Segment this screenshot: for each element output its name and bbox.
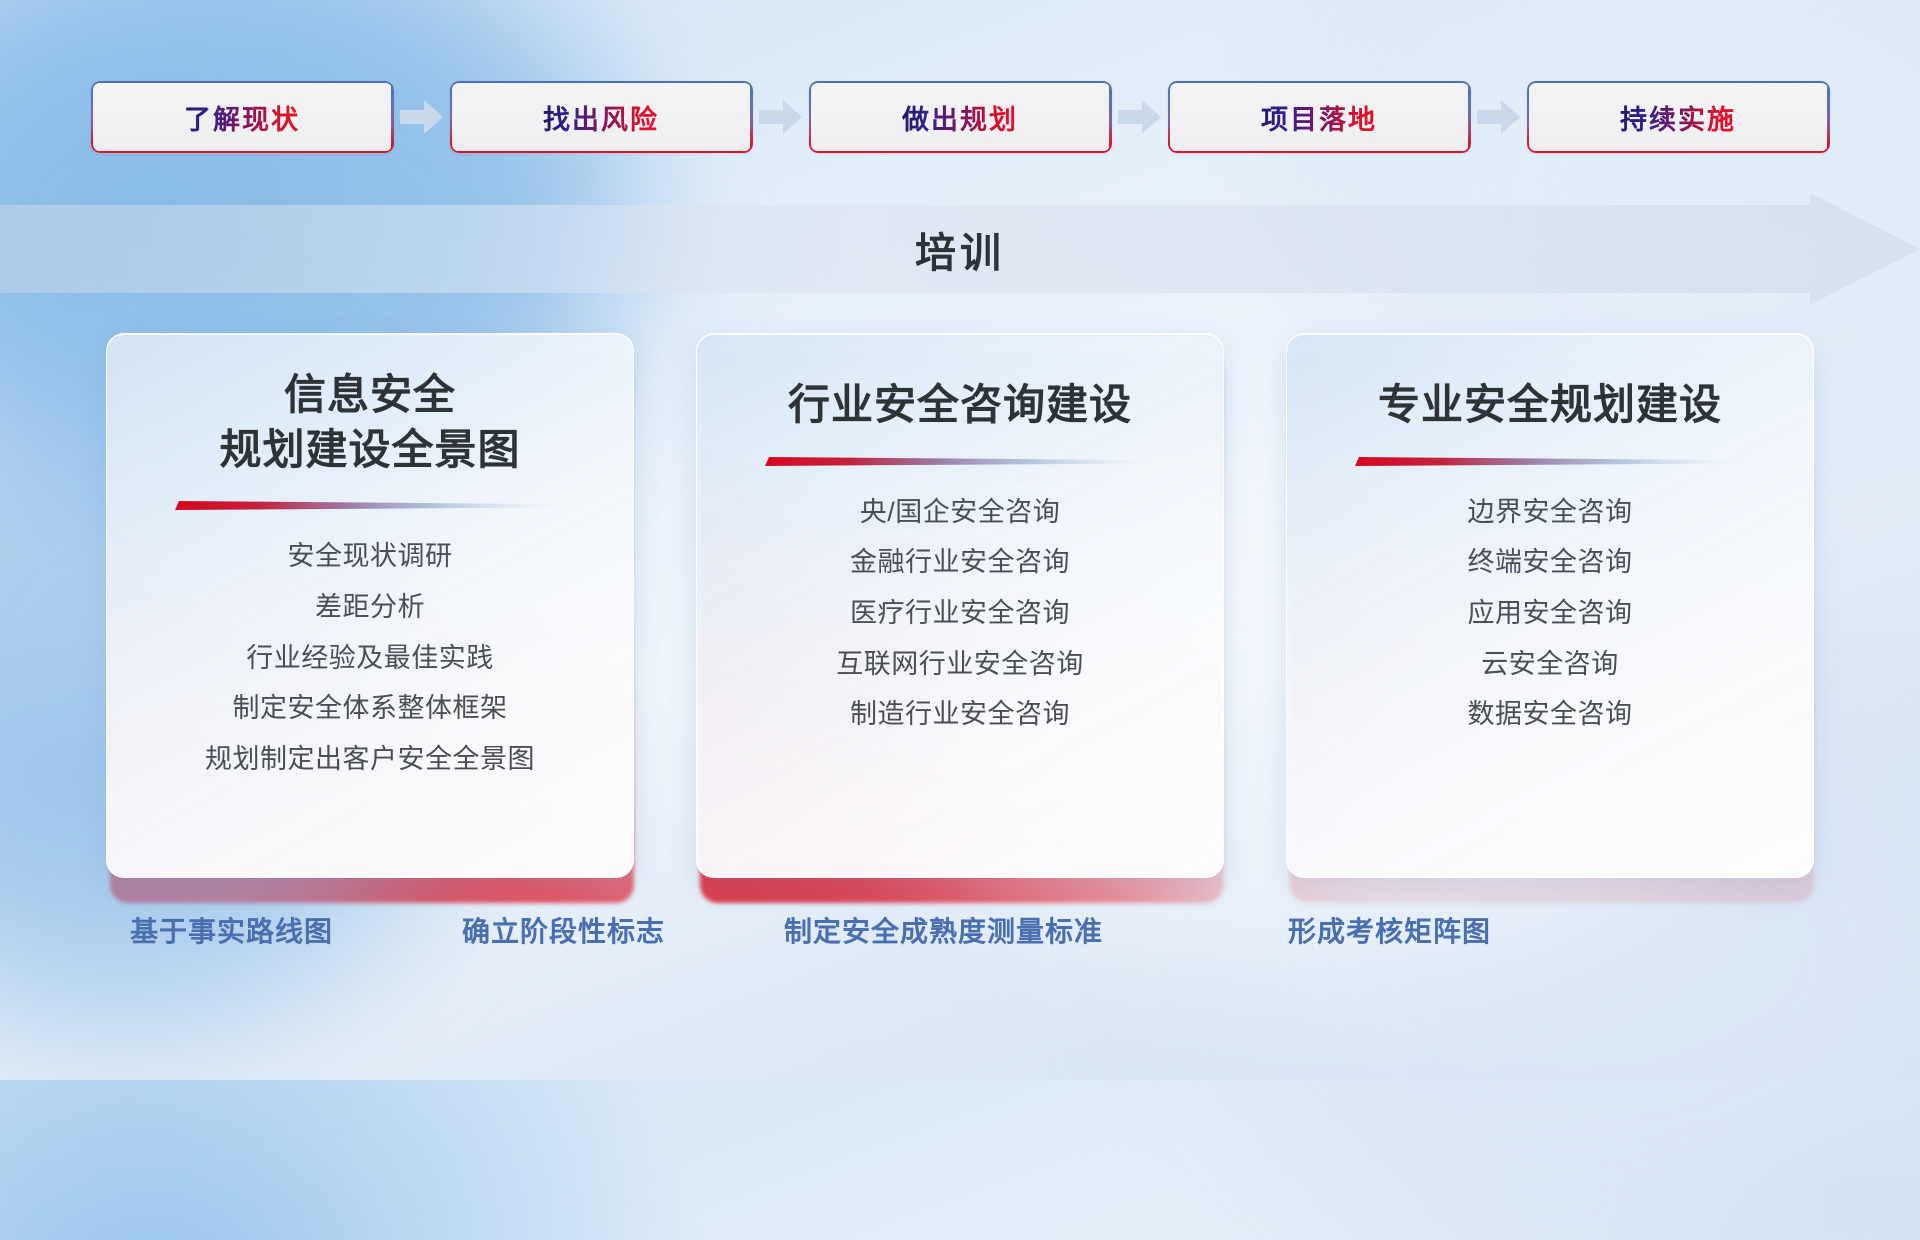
card-divider-1 (765, 455, 1155, 469)
step-box-1[interactable]: 找出风险 (450, 81, 753, 153)
feature-card-row: 信息安全规划建设全景图 安全现状调研差距分析行业经验及最佳实践制定安全体系整体框… (0, 333, 1920, 878)
arrow-right-icon (1118, 99, 1162, 135)
feature-card-1[interactable]: 行业安全咨询建设 央/国企安全咨询金融行业安全咨询医疗行业安全咨询互联网行业安全… (696, 333, 1224, 878)
feature-card-0[interactable]: 信息安全规划建设全景图 安全现状调研差距分析行业经验及最佳实践制定安全体系整体框… (106, 333, 634, 878)
process-step-flow: 了解现状 找出风险 做出规划 项目落地 持续实施 (0, 78, 1920, 156)
feature-card-wrapper-0: 信息安全规划建设全景图 安全现状调研差距分析行业经验及最佳实践制定安全体系整体框… (106, 333, 634, 878)
card-list-item[interactable]: 金融行业安全咨询 (850, 541, 1070, 584)
card-title-line-0-0: 信息安全 (219, 368, 520, 423)
step-box-2[interactable]: 做出规划 (809, 81, 1112, 153)
card-title-line-2-0: 专业安全规划建设 (1378, 378, 1722, 433)
card-divider-2 (1355, 455, 1745, 469)
step-connector-arrow-4 (1471, 78, 1527, 156)
step-box-0[interactable]: 了解现状 (91, 81, 394, 153)
feature-card-2[interactable]: 专业安全规划建设 边界安全咨询终端安全咨询应用安全咨询云安全咨询数据安全咨询 (1286, 333, 1814, 878)
feature-card-wrapper-1: 行业安全咨询建设 央/国企安全咨询金融行业安全咨询医疗行业安全咨询互联网行业安全… (696, 333, 1224, 878)
caption-2: 制定安全成熟度测量标准 (784, 910, 1103, 950)
card-list-item[interactable]: 安全现状调研 (288, 535, 453, 578)
step-label-2: 做出规划 (902, 98, 1018, 137)
step-label-3: 项目落地 (1261, 98, 1377, 137)
card-title-line-1-0: 行业安全咨询建设 (788, 378, 1132, 433)
caption-row: 基于事实路线图确立阶段性标志制定安全成熟度测量标准形成考核矩阵图 (0, 910, 1920, 958)
step-label-1: 找出风险 (543, 98, 659, 137)
card-list-item[interactable]: 互联网行业安全咨询 (836, 643, 1084, 686)
card-list-item[interactable]: 边界安全咨询 (1468, 491, 1633, 534)
caption-1: 确立阶段性标志 (462, 910, 665, 950)
card-list-item[interactable]: 差距分析 (315, 586, 425, 629)
card-list-item[interactable]: 医疗行业安全咨询 (850, 592, 1070, 635)
card-list-item[interactable]: 规划制定出客户安全全景图 (205, 738, 535, 781)
step-connector-arrow-3 (1112, 78, 1168, 156)
card-list-item[interactable]: 制定安全体系整体框架 (233, 687, 508, 730)
card-list-item[interactable]: 数据安全咨询 (1468, 693, 1633, 736)
step-label-0: 了解现状 (184, 98, 300, 137)
step-label-4: 持续实施 (1620, 98, 1736, 137)
step-box-4[interactable]: 持续实施 (1527, 81, 1830, 153)
card-list-item[interactable]: 央/国企安全咨询 (860, 491, 1061, 534)
step-connector-arrow-2 (753, 78, 809, 156)
caption-3: 形成考核矩阵图 (1288, 910, 1491, 950)
card-title-1: 行业安全咨询建设 (788, 378, 1132, 433)
caption-0: 基于事实路线图 (130, 910, 333, 950)
card-title-line-0-1: 规划建设全景图 (219, 423, 520, 478)
card-title-2: 专业安全规划建设 (1378, 378, 1722, 433)
card-list-item[interactable]: 云安全咨询 (1481, 643, 1619, 686)
feature-card-wrapper-2: 专业安全规划建设 边界安全咨询终端安全咨询应用安全咨询云安全咨询数据安全咨询 (1286, 333, 1814, 878)
card-list-item[interactable]: 终端安全咨询 (1468, 541, 1633, 584)
card-list-2: 边界安全咨询终端安全咨询应用安全咨询云安全咨询数据安全咨询 (1287, 491, 1813, 736)
training-banner: 培训 (0, 193, 1920, 305)
card-title-0: 信息安全规划建设全景图 (219, 368, 520, 477)
card-list-1: 央/国企安全咨询金融行业安全咨询医疗行业安全咨询互联网行业安全咨询制造行业安全咨… (697, 491, 1223, 736)
card-list-0: 安全现状调研差距分析行业经验及最佳实践制定安全体系整体框架规划制定出客户安全全景… (107, 535, 633, 780)
step-connector-arrow-1 (394, 78, 450, 156)
card-list-item[interactable]: 行业经验及最佳实践 (246, 637, 494, 680)
banner-label: 培训 (0, 193, 1920, 305)
card-list-item[interactable]: 应用安全咨询 (1468, 592, 1633, 635)
card-list-item[interactable]: 制造行业安全咨询 (850, 693, 1070, 736)
arrow-right-icon (400, 99, 444, 135)
card-divider-0 (175, 499, 565, 513)
arrow-right-icon (759, 99, 803, 135)
arrow-right-icon (1477, 99, 1521, 135)
step-box-3[interactable]: 项目落地 (1168, 81, 1471, 153)
